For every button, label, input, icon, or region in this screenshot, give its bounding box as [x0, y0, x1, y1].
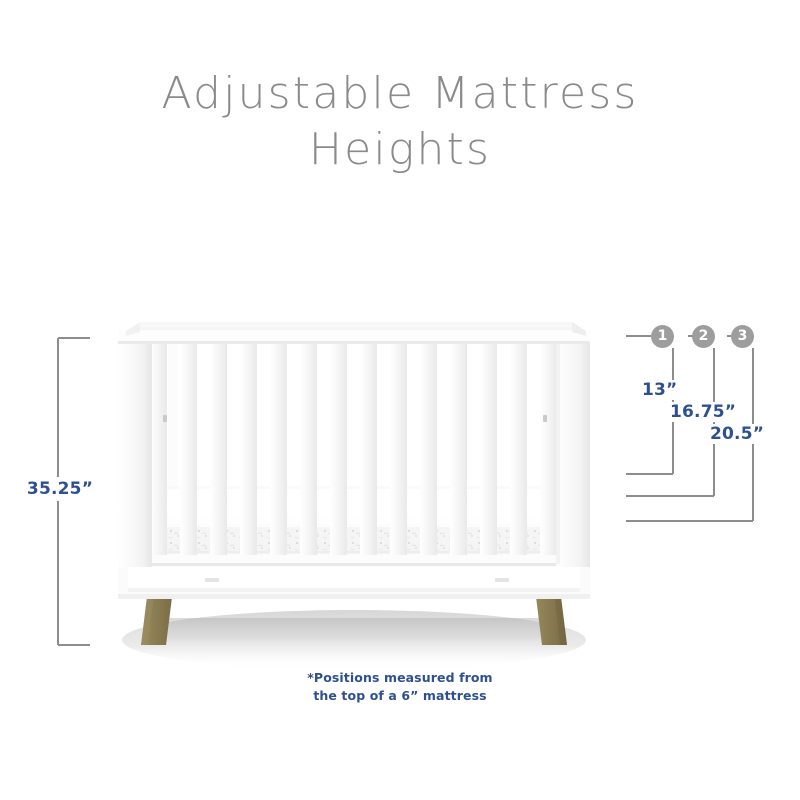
infographic-canvas: Adjustable Mattress Heights [0, 0, 800, 800]
callout-badge-3[interactable]: 3 [731, 325, 754, 348]
crib-post-right [556, 331, 590, 567]
overall-height-dimension [0, 0, 130, 800]
footnote-text: *Positions measured from the top of a 6”… [200, 669, 600, 705]
callout-badge-1[interactable]: 1 [651, 325, 674, 348]
callout-label-2: 16.75” [668, 402, 738, 422]
callout-badge-2[interactable]: 2 [692, 325, 715, 348]
callout-label-3: 20.5” [708, 424, 766, 444]
overall-height-label: 35.25” [12, 477, 108, 501]
callout-label-1: 13” [640, 380, 679, 400]
mattress-position-callouts: 1 2 3 13” 16.75” 20.5” [600, 300, 800, 560]
